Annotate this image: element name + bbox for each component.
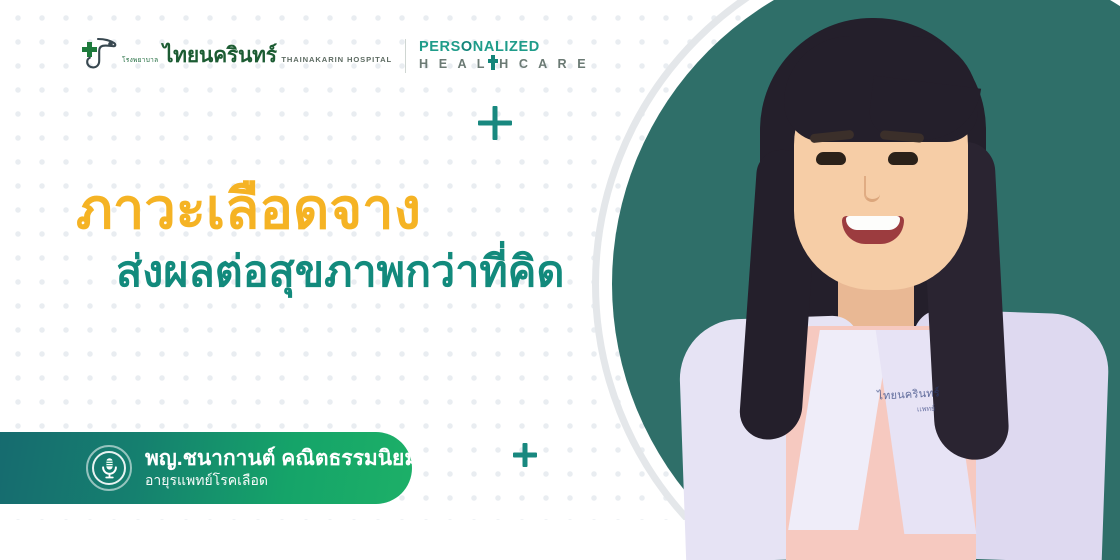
microphone-icon xyxy=(100,457,119,479)
thainakarin-wordmark: โรงพยาบาล ไทยนครินทร์ THAINAKARIN HOSPIT… xyxy=(122,45,392,66)
ring-bottom-mask xyxy=(0,520,700,560)
microphone-badge xyxy=(86,445,132,491)
logo-lockup: โรงพยาบาล ไทยนครินทร์ THAINAKARIN HOSPIT… xyxy=(76,36,589,75)
page-subtitle: ส่งผลต่อสุขภาพกว่าที่คิด xyxy=(116,247,564,299)
caduceus-cross-icon xyxy=(76,36,118,75)
promo-banner: ไทยนครินทร์ เเพทย์ โรงพยาบาล ไทยนครินทร์… xyxy=(0,0,1120,560)
tagline-line-2: H E A LTH C A R E xyxy=(419,58,589,71)
coat-logo-sub: เเพทย์ xyxy=(878,401,974,417)
tagline-hcare: H C A R E xyxy=(499,58,589,71)
hospital-small-thai: โรงพยาบาล xyxy=(122,57,158,64)
coat-embroidered-logo: ไทยนครินทร์ เเพทย์ xyxy=(877,382,975,433)
personalized-healthcare-lockup: PERSONALIZED H E A LTH C A R E xyxy=(419,40,589,71)
headline-block: ภาวะเลือดจาง ส่งผลต่อสุขภาพกว่าที่คิด xyxy=(76,178,564,298)
plus-cross-bottom-icon xyxy=(513,443,537,467)
speaker-name: พญ.ชนากานต์ คณิตธรรมนิยม xyxy=(145,447,418,471)
logo-divider xyxy=(405,39,406,73)
eye-left xyxy=(816,152,846,165)
tagline-line-1: PERSONALIZED xyxy=(419,40,589,55)
plus-cross-top-icon xyxy=(478,106,512,140)
speaker-text: พญ.ชนากานต์ คณิตธรรมนิยม อายุรแพทย์โรคเล… xyxy=(145,447,418,489)
speaker-banner: พญ.ชนากานต์ คณิตธรรมนิยม อายุรแพทย์โรคเล… xyxy=(0,432,412,504)
tagline-cross-t-icon: T xyxy=(488,58,499,71)
microphone-badge-ring xyxy=(92,451,126,485)
tagline-o: O xyxy=(461,39,473,55)
tagline-nalized: NALIZED xyxy=(473,39,540,55)
coat-logo-thai: ไทยนครินทร์ xyxy=(877,382,974,405)
tagline-heal: H E A L xyxy=(419,58,488,71)
doctor-photo: ไทยนครินทร์ เเพทย์ xyxy=(664,0,1120,560)
page-title: ภาวะเลือดจาง xyxy=(76,178,564,241)
hospital-name-en: THAINAKARIN HOSPITAL xyxy=(281,55,392,64)
teeth xyxy=(846,216,900,230)
speaker-role: อายุรแพทย์โรคเลือด xyxy=(145,473,418,489)
hair-fringe xyxy=(784,36,978,142)
hospital-name-thai: ไทยนครินทร์ xyxy=(163,44,277,67)
tagline-pers: PERS xyxy=(419,39,461,55)
thainakarin-logo: โรงพยาบาล ไทยนครินทร์ THAINAKARIN HOSPIT… xyxy=(76,36,392,75)
nose xyxy=(864,176,880,202)
eye-right xyxy=(888,152,918,165)
